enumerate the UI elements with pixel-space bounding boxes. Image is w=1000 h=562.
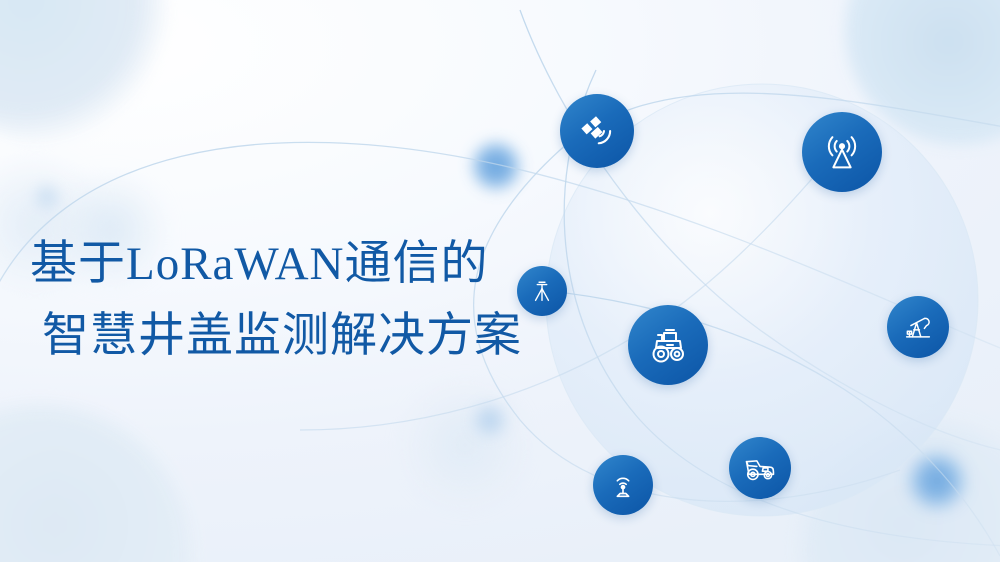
survey-tripod-glyph [528, 277, 556, 305]
title-line-1: 基于LoRaWAN通信的 [30, 228, 522, 300]
tractor-glyph [644, 321, 692, 369]
survey-tripod-icon[interactable] [517, 266, 567, 316]
radio-tower-glyph [819, 129, 865, 175]
tractor-icon[interactable] [628, 305, 708, 385]
signal-beacon-icon[interactable] [593, 455, 653, 515]
title-line-2: 智慧井盖监测解决方案 [30, 300, 522, 372]
page-title: 基于LoRaWAN通信的 智慧井盖监测解决方案 [30, 228, 522, 372]
oil-pumpjack-glyph [901, 310, 935, 344]
satellite-glyph [576, 110, 618, 152]
signal-beacon-glyph [606, 468, 640, 502]
oil-pumpjack-icon[interactable] [887, 296, 949, 358]
radio-tower-icon[interactable] [802, 112, 882, 192]
satellite-icon[interactable] [560, 94, 634, 168]
harvester-glyph [741, 449, 779, 487]
harvester-icon[interactable] [729, 437, 791, 499]
presentation-slide: 基于LoRaWAN通信的 智慧井盖监测解决方案 [0, 0, 1000, 562]
